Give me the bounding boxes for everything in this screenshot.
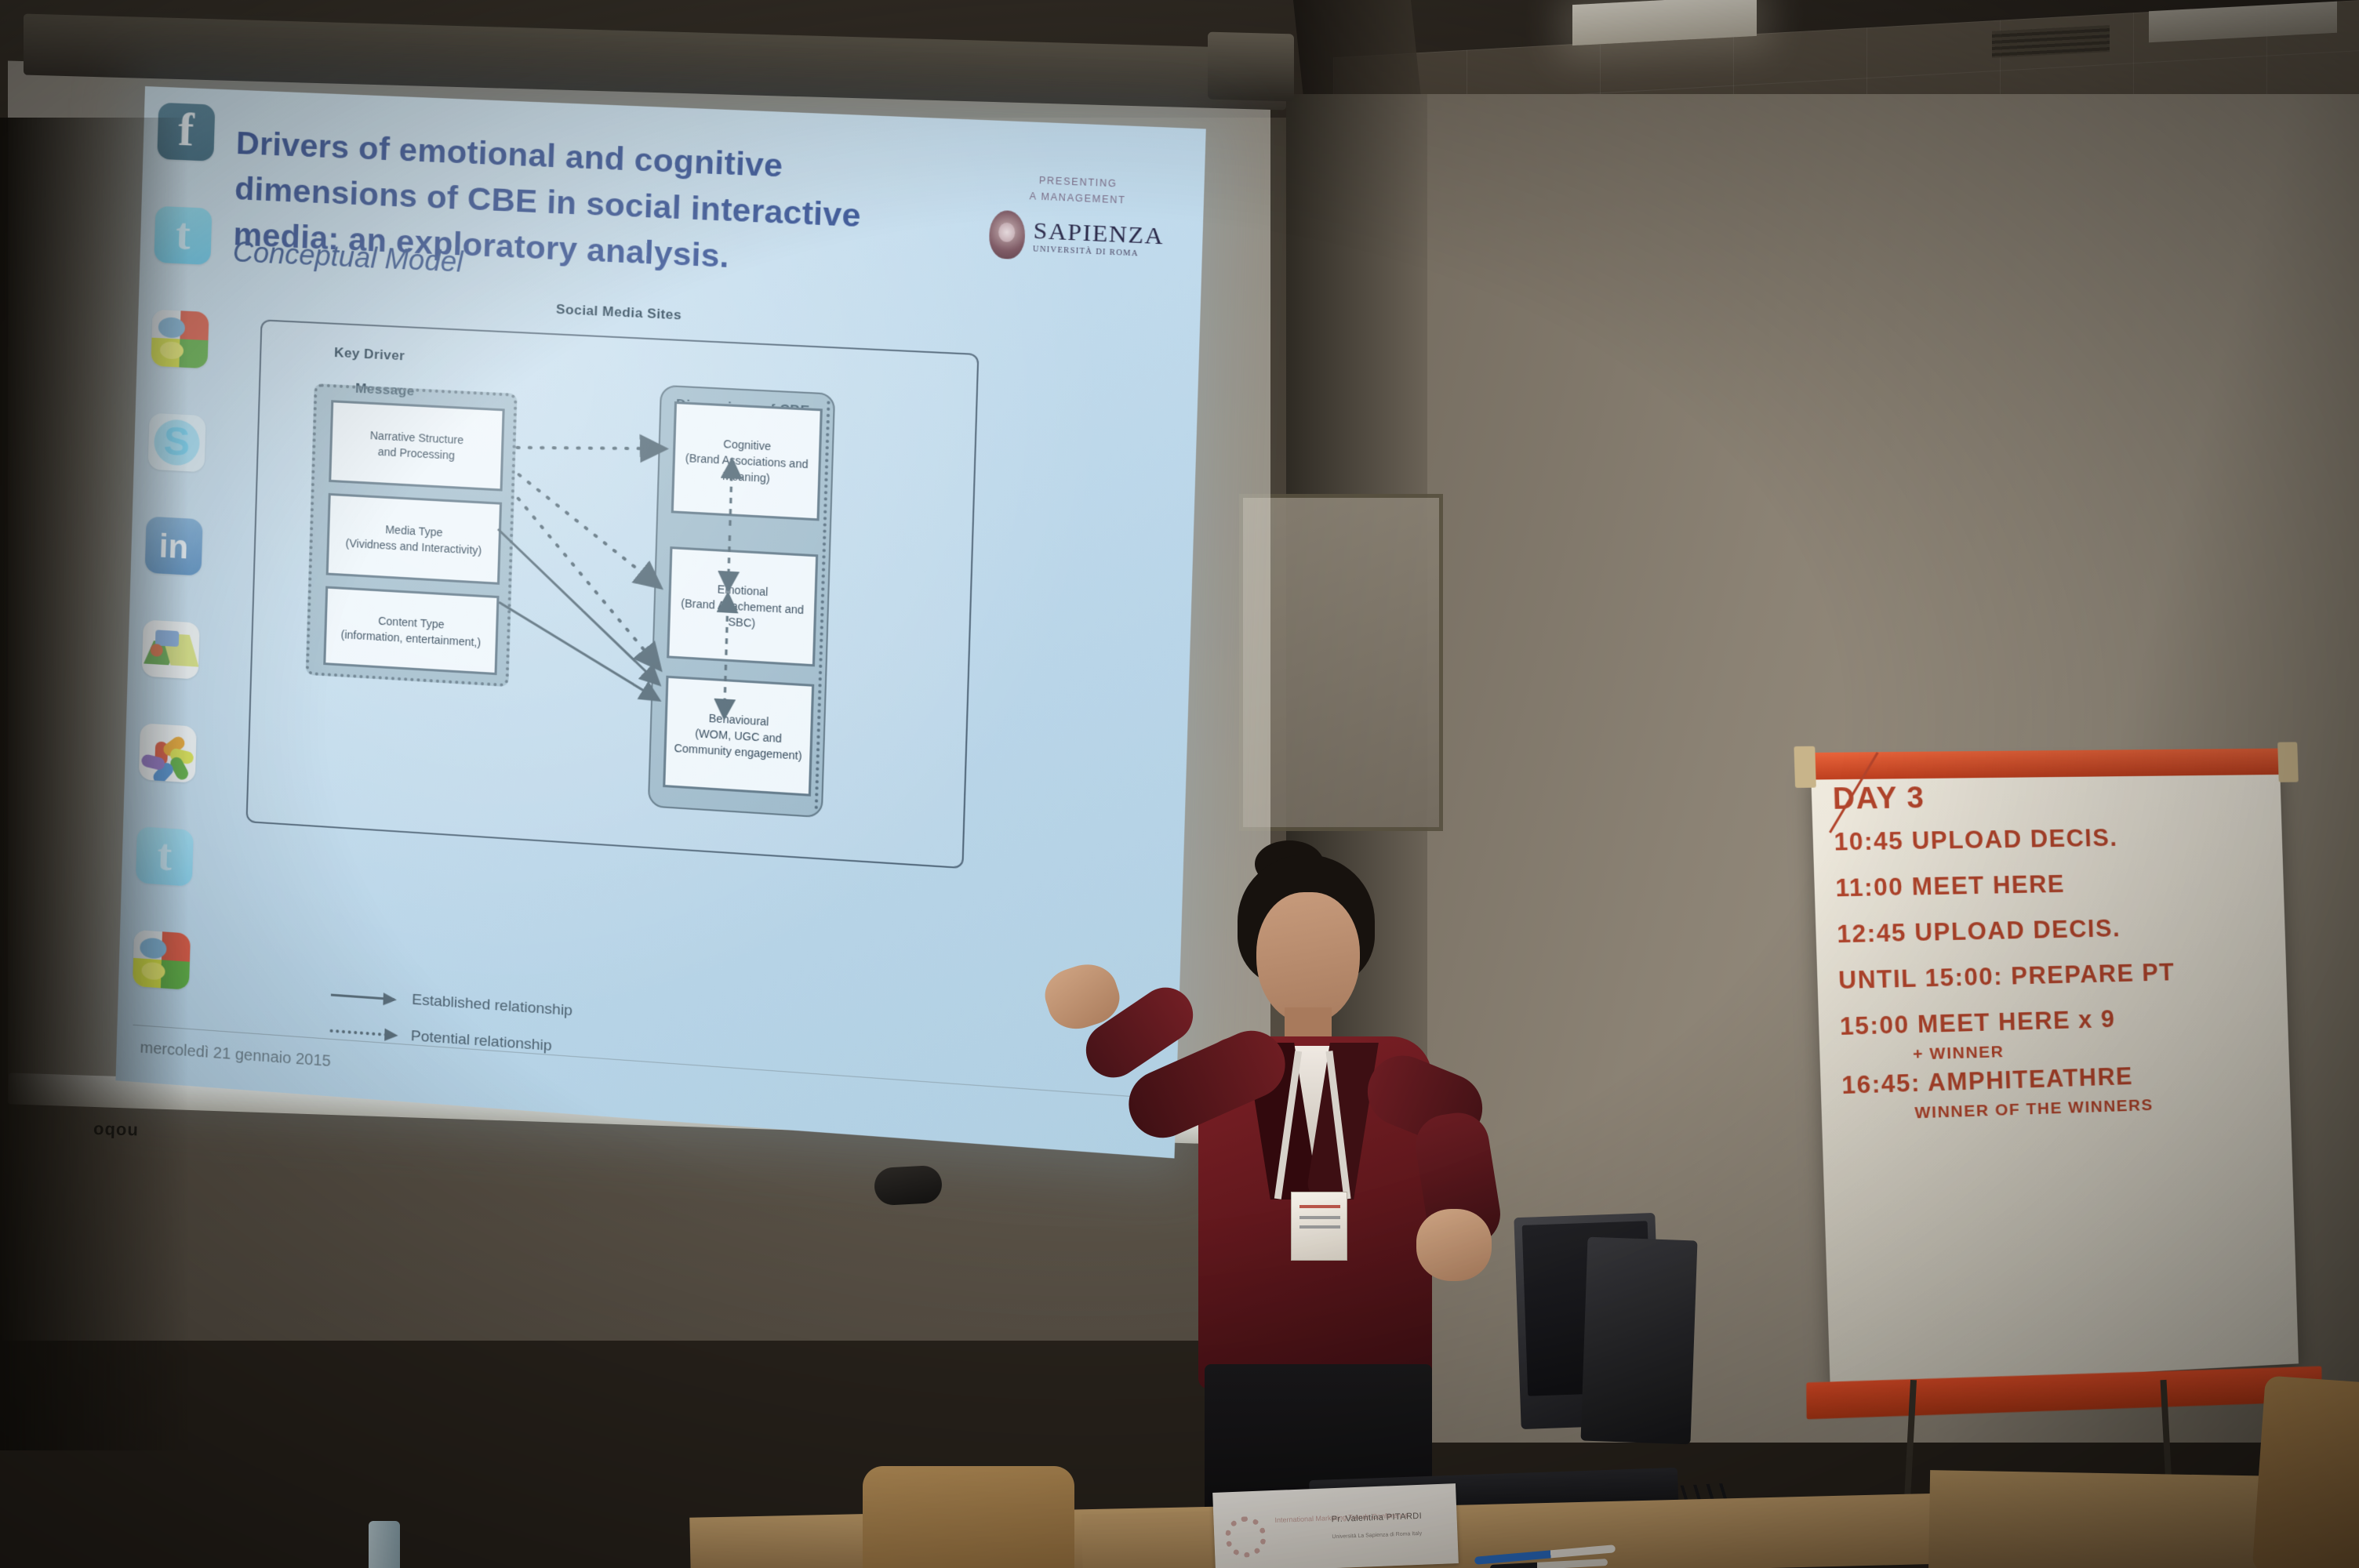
diagram-legend: Established relationship Potential relat… bbox=[329, 985, 573, 1076]
chair-right bbox=[2252, 1375, 2359, 1568]
desk-name-card: International Marketing Trends Conferenc… bbox=[1212, 1483, 1459, 1568]
flipchart-line: 12:45 UPLOAD DECIS. bbox=[1837, 911, 2274, 949]
legend-label: Potential relationship bbox=[410, 1028, 552, 1055]
conference-room-scene: nobo bbox=[0, 0, 2359, 1568]
dotted-arrow-icon bbox=[330, 1029, 394, 1037]
legend-label: Established relationship bbox=[412, 992, 572, 1021]
presenter-person bbox=[1059, 855, 1608, 1568]
conference-logo-icon bbox=[1224, 1515, 1267, 1558]
speaker-affiliation: Università La Sapienza di Roma Italy bbox=[1332, 1530, 1422, 1542]
left-wall-shadow bbox=[0, 118, 188, 1450]
projected-slide: Drivers of emotional and cognitive dimen… bbox=[115, 86, 1205, 1159]
flipchart-line: 15:00 MEET HERE x 9 bbox=[1839, 1001, 2276, 1042]
wall-mounted-device bbox=[874, 1165, 943, 1206]
sapienza-logo: PRESENTING A MANAGEMENT SAPIENZA UNIVERS… bbox=[989, 170, 1166, 266]
conference-badge bbox=[1291, 1192, 1347, 1261]
flipchart-easel: DAY 3 10:45 UPLOAD DECIS. 11:00 MEET HER… bbox=[1811, 762, 2299, 1388]
flipchart-agenda-text: DAY 3 10:45 UPLOAD DECIS. 11:00 MEET HER… bbox=[1832, 778, 2278, 1131]
flipchart-day-heading: DAY 3 bbox=[1832, 782, 1925, 817]
flipchart-clip-right bbox=[2277, 742, 2299, 782]
projection-screen-roller-cap bbox=[1208, 32, 1294, 102]
flipchart-line: 11:00 MEET HERE bbox=[1835, 866, 2272, 902]
legend-row-potential: Potential relationship bbox=[329, 1022, 572, 1057]
hand-right bbox=[1416, 1209, 1492, 1281]
flipchart-clip-left bbox=[1794, 746, 1816, 788]
flipchart-line: 10:45 UPLOAD DECIS. bbox=[1834, 822, 2270, 856]
water-bottle bbox=[369, 1521, 400, 1568]
chair-left bbox=[863, 1466, 1074, 1568]
solid-arrow-icon bbox=[331, 993, 394, 1000]
conceptual-model-diagram: Social Media Sites Key Driver Message Di… bbox=[212, 286, 1081, 1029]
relationship-arrows bbox=[212, 286, 1081, 1029]
flipchart-line: UNTIL 15:00: PREPARE PT bbox=[1838, 956, 2275, 995]
computer-monitor-secondary bbox=[1581, 1237, 1698, 1445]
sapienza-seal-icon bbox=[989, 209, 1026, 260]
face bbox=[1256, 892, 1360, 1024]
